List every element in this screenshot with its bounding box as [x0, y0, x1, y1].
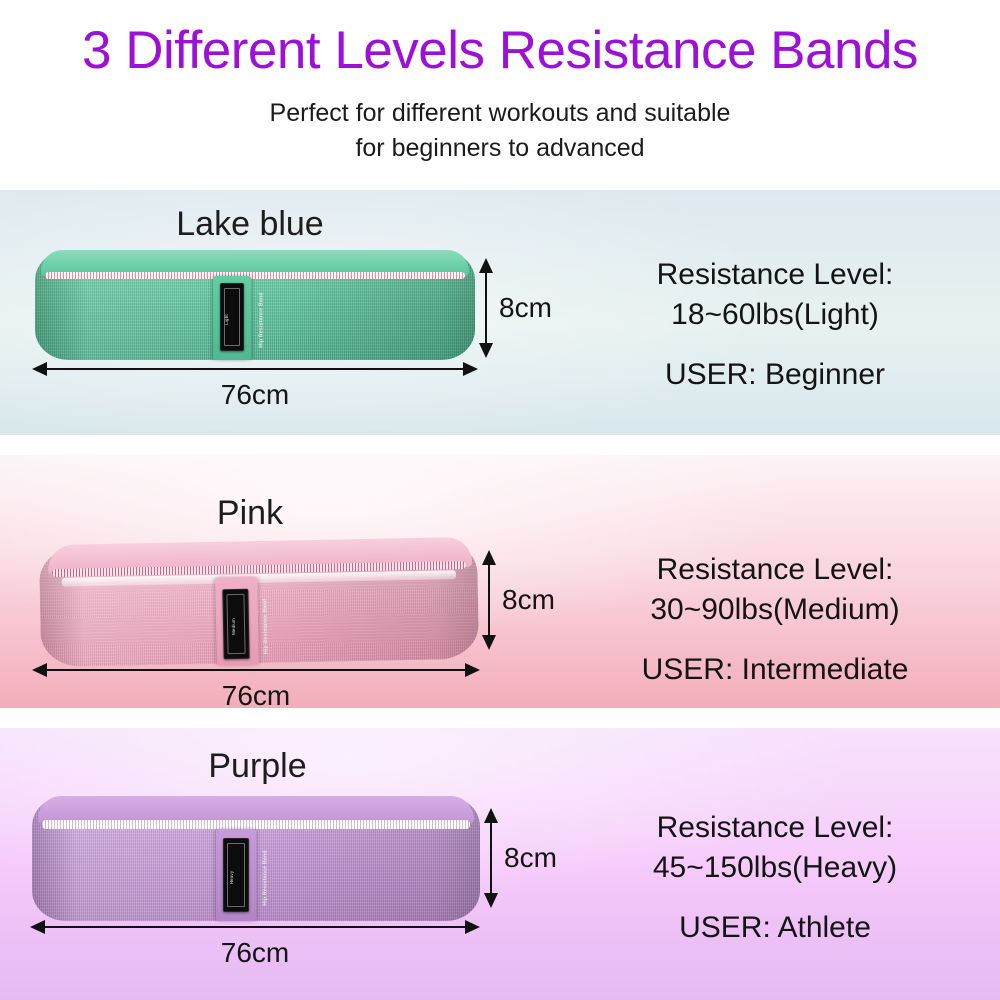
band-panel-pink: Pink Hip Resistance Band Medium: [0, 455, 1000, 708]
header: 3 Different Levels Resistance Bands Perf…: [0, 0, 1000, 190]
width-label: 76cm: [30, 936, 480, 970]
tag-level-text: Light: [224, 314, 229, 325]
dimension-line: [485, 267, 487, 349]
product-tag: Hip Resistance Band Medium: [222, 589, 249, 659]
band-image-purple: Hip Resistance Band Heavy: [32, 796, 480, 921]
color-name-purple: Purple: [0, 746, 515, 786]
dimension-line: [41, 669, 471, 671]
resistance-value: 45~150lbs(Heavy): [560, 848, 990, 888]
height-dimension-pink: 8cm: [482, 550, 496, 650]
height-label: 8cm: [502, 583, 555, 617]
width-dimension-purple: 76cm: [30, 920, 480, 934]
stitch-texture: [42, 820, 470, 829]
band-image-lake-blue: Hip Resistance Band Light: [35, 250, 475, 360]
dimension-line: [490, 817, 492, 899]
tag-level-text: Medium: [231, 618, 236, 635]
tag-brand-text: Hip Resistance Band: [263, 850, 269, 905]
page-subtitle: Perfect for different workouts and suita…: [0, 96, 1000, 166]
dimension-line: [39, 926, 471, 928]
arrow-head-right: [465, 663, 480, 677]
resistance-value: 18~60lbs(Light): [560, 295, 990, 335]
user-label: USER: Beginner: [560, 355, 990, 395]
color-name-lake-blue: Lake blue: [0, 204, 500, 244]
product-tag: Hip Resistance Band Heavy: [223, 838, 249, 912]
tag-brand-text: Hip Resistance Band: [262, 599, 269, 655]
arrow-head-right: [463, 362, 478, 376]
dimension-line: [488, 559, 490, 641]
resistance-label: Resistance Level:: [560, 255, 990, 295]
arrow-head-bottom: [482, 635, 496, 650]
width-label: 76cm: [32, 679, 480, 708]
color-name-pink: Pink: [0, 493, 500, 533]
band-panel-purple: Purple Hip Resistance Band Heavy 8cm: [0, 728, 1000, 1000]
arrow-head-right: [465, 920, 480, 934]
band-image-pink: Hip Resistance Band Medium: [40, 543, 478, 663]
spec-pink: Resistance Level: 30~90lbs(Medium) USER:…: [560, 550, 990, 690]
arrow-head-bottom: [479, 343, 493, 358]
arrow-head-bottom: [484, 893, 498, 908]
dimension-line: [41, 368, 469, 370]
height-label: 8cm: [504, 841, 557, 875]
subtitle-line-1: Perfect for different workouts and suita…: [0, 96, 1000, 131]
user-label: USER: Intermediate: [560, 650, 990, 690]
height-dimension-purple: 8cm: [484, 808, 498, 908]
subtitle-line-2: for beginners to advanced: [0, 131, 1000, 166]
tag-level-text: Heavy: [229, 871, 234, 884]
resistance-label: Resistance Level:: [560, 550, 990, 590]
infographic-page: 3 Different Levels Resistance Bands Perf…: [0, 0, 1000, 1000]
stitch-texture: [45, 272, 465, 279]
width-label: 76cm: [32, 378, 478, 412]
product-tag: Hip Resistance Band Light: [220, 283, 244, 351]
spec-lake-blue: Resistance Level: 18~60lbs(Light) USER: …: [560, 255, 990, 395]
height-dimension-lake-blue: 8cm: [479, 258, 493, 358]
band-stitch-line: [42, 820, 470, 829]
band-panel-lake-blue: Lake blue Hip Resistance Band Light: [0, 190, 1000, 435]
user-label: USER: Athlete: [560, 908, 990, 948]
width-dimension-pink: 76cm: [32, 663, 480, 677]
resistance-value: 30~90lbs(Medium): [560, 590, 990, 630]
tag-brand-text: Hip Resistance Band: [259, 292, 265, 347]
spec-purple: Resistance Level: 45~150lbs(Heavy) USER:…: [560, 808, 990, 948]
page-title: 3 Different Levels Resistance Bands: [0, 20, 1000, 82]
height-label: 8cm: [499, 291, 552, 325]
band-stitch-line: [45, 272, 465, 279]
tag-inner-border: [226, 594, 245, 654]
resistance-label: Resistance Level:: [560, 808, 990, 848]
width-dimension-lake-blue: 76cm: [32, 362, 478, 376]
